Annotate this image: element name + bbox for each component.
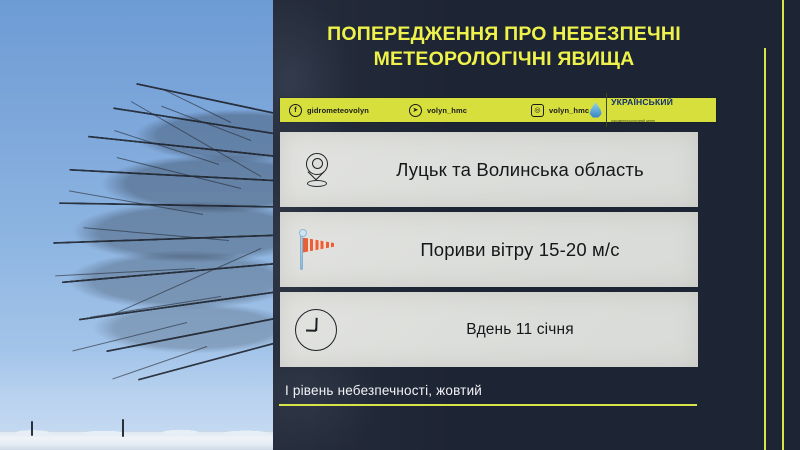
wind-text: Пориви вітру 15-20 м/с — [352, 239, 698, 261]
fence-post — [31, 421, 33, 436]
instagram-handle: volyn_hmc — [549, 106, 589, 115]
tree-illustration — [0, 88, 273, 418]
social-account-telegram[interactable]: ➤ volyn_hmc — [409, 104, 467, 117]
tree-branches — [0, 88, 273, 418]
info-row-wind: Пориви вітру 15-20 м/с — [280, 212, 698, 287]
brand-name: УКРАЇНСЬКИЙ — [611, 97, 673, 107]
social-account-facebook[interactable]: f gidrometeovolyn — [289, 104, 369, 117]
fence-post — [122, 419, 124, 437]
telegram-icon: ➤ — [409, 104, 422, 117]
brand-subtitle: гідрометеорологічний центр — [611, 119, 655, 123]
title-line-1: ПОПЕРЕДЖЕННЯ ПРО НЕБЕЗПЕЧНІ — [327, 23, 681, 45]
accent-line-inner — [764, 48, 766, 450]
location-pin-icon — [280, 153, 352, 187]
background-photo — [0, 0, 273, 450]
footer-accent-line — [279, 404, 697, 406]
facebook-icon: f — [289, 104, 302, 117]
infographic-root: ПОПЕРЕДЖЕННЯ ПРО НЕБЕЗПЕЧНІ МЕТЕОРОЛОГІЧ… — [0, 0, 800, 450]
title-line-2: МЕТЕОРОЛОГІЧНІ ЯВИЩА — [289, 47, 719, 72]
social-bar: f gidrometeovolyn ➤ volyn_hmc ◎ volyn_hm… — [280, 98, 716, 122]
info-row-time: Вдень 11 січня — [280, 292, 698, 367]
windsock-icon — [280, 230, 352, 270]
snow-ground — [0, 432, 273, 450]
clock-icon — [280, 309, 352, 351]
info-row-location: Луцьк та Волинська область — [280, 132, 698, 207]
time-text: Вдень 11 січня — [352, 321, 698, 339]
brand-logo: УКРАЇНСЬКИЙ гідрометеорологічний центр — [589, 93, 710, 127]
accent-line-right — [782, 0, 784, 450]
water-drop-icon — [589, 102, 602, 118]
brand-text: УКРАЇНСЬКИЙ гідрометеорологічний центр — [606, 93, 710, 127]
danger-level-text: І рівень небезпечності, жовтий — [285, 383, 715, 398]
facebook-handle: gidrometeovolyn — [307, 106, 369, 115]
instagram-icon: ◎ — [531, 104, 544, 117]
location-text: Луцьк та Волинська область — [352, 159, 698, 181]
page-title: ПОПЕРЕДЖЕННЯ ПРО НЕБЕЗПЕЧНІ МЕТЕОРОЛОГІЧ… — [289, 22, 719, 72]
telegram-handle: volyn_hmc — [427, 106, 467, 115]
content-panel: ПОПЕРЕДЖЕННЯ ПРО НЕБЕЗПЕЧНІ МЕТЕОРОЛОГІЧ… — [273, 0, 800, 450]
social-account-instagram[interactable]: ◎ volyn_hmc — [531, 104, 589, 117]
